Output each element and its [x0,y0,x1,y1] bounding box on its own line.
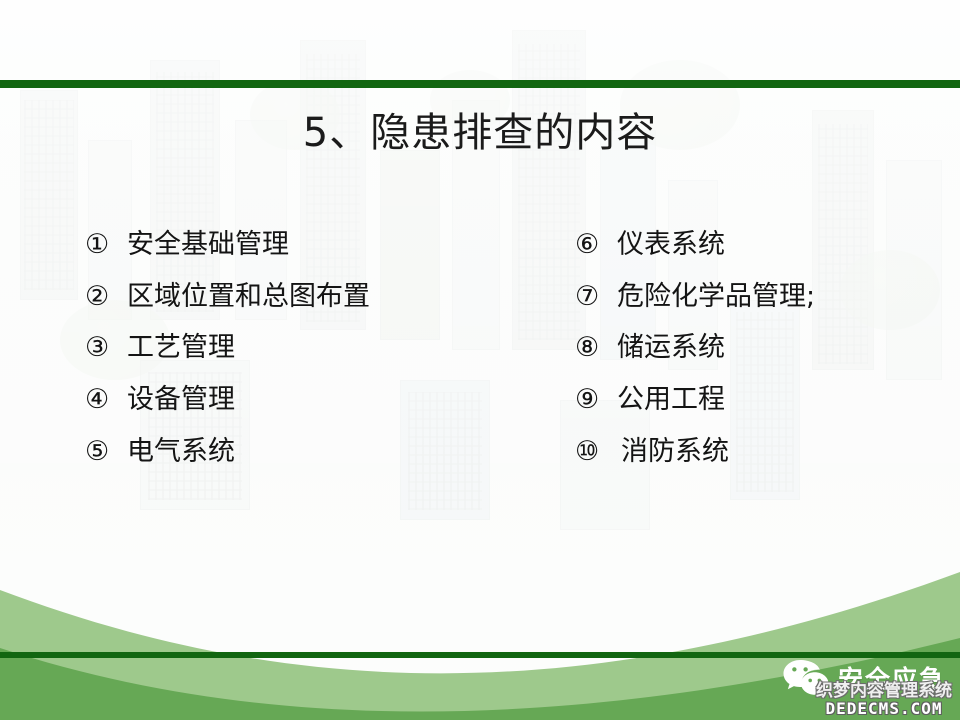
checklist-right-column: ⑥ 仪表系统 ⑦ 危险化学品管理; ⑧ 储运系统 ⑨ 公用工程 ⑩ 消防系统 [575,230,885,466]
list-item-number: ⑥ [575,230,617,260]
list-item-label: 区域位置和总图布置 [127,282,370,312]
list-item-label: 消防系统 [621,437,729,467]
wechat-account-label: 安全应急 [838,660,946,696]
list-item-number: ⑧ [575,333,617,363]
list-item-label: 电气系统 [127,437,235,467]
presentation-slide: 5、隐患排查的内容 ① 安全基础管理 ② 区域位置和总图布置 ③ 工艺管理 ④ … [0,0,960,720]
list-item-number: ⑤ [85,437,127,467]
list-item-label: 仪表系统 [617,230,725,260]
list-item-number: ⑩ [575,437,621,467]
list-item-label: 设备管理 [127,385,235,415]
page-title: 5、隐患排查的内容 [0,108,960,158]
list-item-number: ② [85,282,127,312]
list-item: ④ 设备管理 [85,385,485,415]
list-item: ② 区域位置和总图布置 [85,282,485,312]
list-item: ① 安全基础管理 [85,230,485,260]
list-item-number: ③ [85,333,127,363]
checklist-left-column: ① 安全基础管理 ② 区域位置和总图布置 ③ 工艺管理 ④ 设备管理 ⑤ 电气系… [85,230,485,466]
list-item: ⑧ 储运系统 [575,333,885,363]
wechat-account-badge: 安全应急 [782,658,946,698]
list-item: ⑩ 消防系统 [575,437,885,467]
list-item-number: ⑨ [575,385,617,415]
list-item: ⑨ 公用工程 [575,385,885,415]
list-item-number: ⑦ [575,282,617,312]
list-item: ⑦ 危险化学品管理; [575,282,885,312]
list-item: ③ 工艺管理 [85,333,485,363]
top-divider-rule [0,80,960,88]
list-item-label: 公用工程 [617,385,725,415]
list-item-label: 工艺管理 [127,333,235,363]
list-item-number: ④ [85,385,127,415]
list-item-label: 安全基础管理 [127,230,289,260]
list-item-number: ① [85,230,127,260]
list-item: ⑤ 电气系统 [85,437,485,467]
list-item-label: 危险化学品管理; [617,282,815,312]
list-item: ⑥ 仪表系统 [575,230,885,260]
list-item-label: 储运系统 [617,333,725,363]
checklist-content: ① 安全基础管理 ② 区域位置和总图布置 ③ 工艺管理 ④ 设备管理 ⑤ 电气系… [85,230,885,466]
wechat-icon [782,658,830,698]
